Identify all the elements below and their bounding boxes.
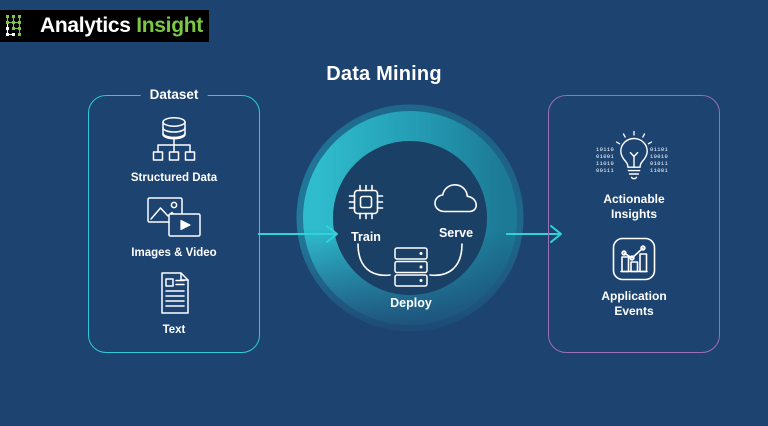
dataset-item-label: Text xyxy=(163,323,186,338)
pipeline-node-serve[interactable]: Serve xyxy=(424,182,488,240)
lightbulb-binary-icon: 10110 01001 11010 00111 01101 10010 0101… xyxy=(595,129,673,185)
pipeline-core: Train Serve xyxy=(296,104,524,332)
dataset-item-images-video[interactable]: Images & Video xyxy=(131,195,216,261)
dataset-item-label: Structured Data xyxy=(131,171,217,186)
output-item-actionable-insights[interactable]: 10110 01001 11010 00111 01101 10010 0101… xyxy=(595,129,673,223)
dataset-item-text[interactable]: Text xyxy=(154,270,194,338)
cpu-chip-icon xyxy=(346,182,386,227)
svg-text:11001: 11001 xyxy=(650,168,668,174)
dot-matrix-logo-icon xyxy=(4,13,34,39)
dataset-item-label: Images & Video xyxy=(131,246,216,261)
output-item-label: Application Events xyxy=(601,289,666,320)
flow-arrow-in xyxy=(258,222,346,246)
brand-wordmark: Analytics Insight xyxy=(40,14,203,38)
pipeline-node-label: Serve xyxy=(439,226,473,240)
output-item-application-events[interactable]: Application Events xyxy=(601,236,666,320)
svg-text:01011: 01011 xyxy=(650,161,668,167)
svg-text:11010: 11010 xyxy=(596,161,614,167)
pipeline-node-label: Train xyxy=(351,230,381,244)
output-panel: 10110 01001 11010 00111 01101 10010 0101… xyxy=(548,95,720,353)
image-video-icon xyxy=(145,195,203,239)
database-hierarchy-icon xyxy=(148,114,200,164)
page-title: Data Mining xyxy=(0,63,768,86)
brand-logo: Analytics Insight xyxy=(0,10,209,42)
svg-text:01001: 01001 xyxy=(596,154,614,160)
bar-chart-trend-icon xyxy=(611,236,657,282)
dataset-item-structured-data[interactable]: Structured Data xyxy=(131,114,217,186)
svg-text:01101: 01101 xyxy=(650,147,668,153)
svg-text:00111: 00111 xyxy=(596,168,614,174)
input-panel: Dataset xyxy=(88,95,260,353)
svg-text:10110: 10110 xyxy=(596,147,614,153)
output-item-label: Actionable Insights xyxy=(603,192,664,223)
pipeline-ring: Train Serve xyxy=(296,104,524,332)
infographic-canvas: Analytics Insight Data Mining Dataset xyxy=(0,0,768,426)
brand-name-primary: Analytics xyxy=(40,14,131,37)
pipeline-node-deploy[interactable]: Deploy xyxy=(379,246,443,310)
svg-text:10010: 10010 xyxy=(650,154,668,160)
cloud-icon xyxy=(433,182,479,223)
text-document-icon xyxy=(154,270,194,316)
brand-name-secondary: Insight xyxy=(136,14,203,37)
server-stack-icon xyxy=(392,246,430,293)
pipeline-node-label: Deploy xyxy=(390,296,432,310)
